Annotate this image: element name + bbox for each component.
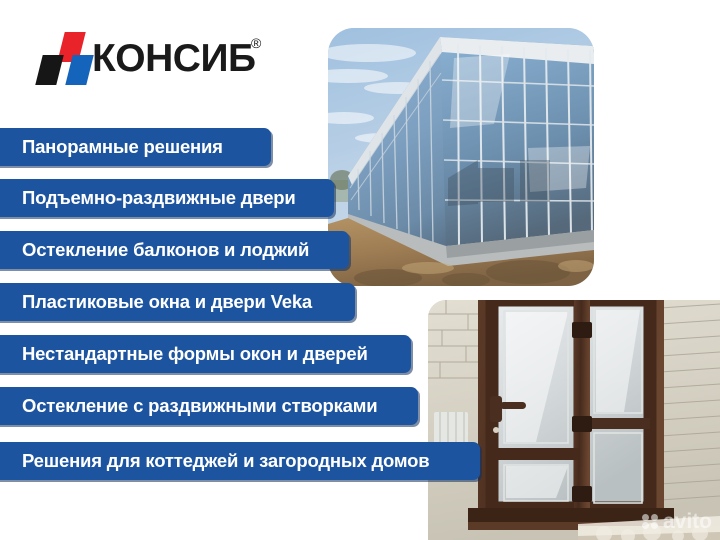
feature-banner-3[interactable]: Остекление балконов и лоджий bbox=[0, 231, 349, 269]
poster-canvas: КОНСИБ ® bbox=[0, 0, 720, 540]
logo-parallelogram-black-icon bbox=[35, 55, 63, 85]
feature-banner-3-label: Остекление балконов и лоджий bbox=[22, 239, 309, 261]
feature-banner-4-label: Пластиковые окна и двери Veka bbox=[22, 291, 312, 313]
glass-facade-illustration bbox=[328, 28, 594, 286]
feature-banner-4[interactable]: Пластиковые окна и двери Veka bbox=[0, 283, 355, 321]
avito-watermark: avito bbox=[642, 511, 712, 532]
feature-banner-7[interactable]: Решения для коттеджей и загородных домов bbox=[0, 442, 480, 480]
feature-banner-6[interactable]: Остекление с раздвижными створками bbox=[0, 387, 418, 425]
feature-banner-2[interactable]: Подъемно-раздвижные двери bbox=[0, 179, 334, 217]
avito-watermark-label: avito bbox=[663, 511, 712, 532]
photo-panoramic-glass-facade bbox=[328, 28, 594, 286]
feature-banner-5[interactable]: Нестандартные формы окон и дверей bbox=[0, 335, 411, 373]
avito-dots-icon bbox=[642, 514, 659, 529]
feature-banner-2-label: Подъемно-раздвижные двери bbox=[22, 187, 296, 209]
balcony-door-illustration bbox=[428, 300, 720, 540]
feature-banner-7-label: Решения для коттеджей и загородных домов bbox=[22, 450, 429, 472]
company-logo: КОНСИБ ® bbox=[36, 30, 296, 88]
photo-brown-pvc-balcony-door bbox=[428, 300, 720, 540]
logo-wordmark: КОНСИБ bbox=[92, 36, 256, 82]
registered-trademark-icon: ® bbox=[251, 36, 261, 50]
feature-banner-5-label: Нестандартные формы окон и дверей bbox=[22, 343, 368, 365]
logo-mark-icon bbox=[36, 30, 100, 88]
feature-banner-6-label: Остекление с раздвижными створками bbox=[22, 395, 377, 417]
feature-banner-1-label: Панорамные решения bbox=[22, 136, 223, 158]
feature-banner-1[interactable]: Панорамные решения bbox=[0, 128, 271, 166]
